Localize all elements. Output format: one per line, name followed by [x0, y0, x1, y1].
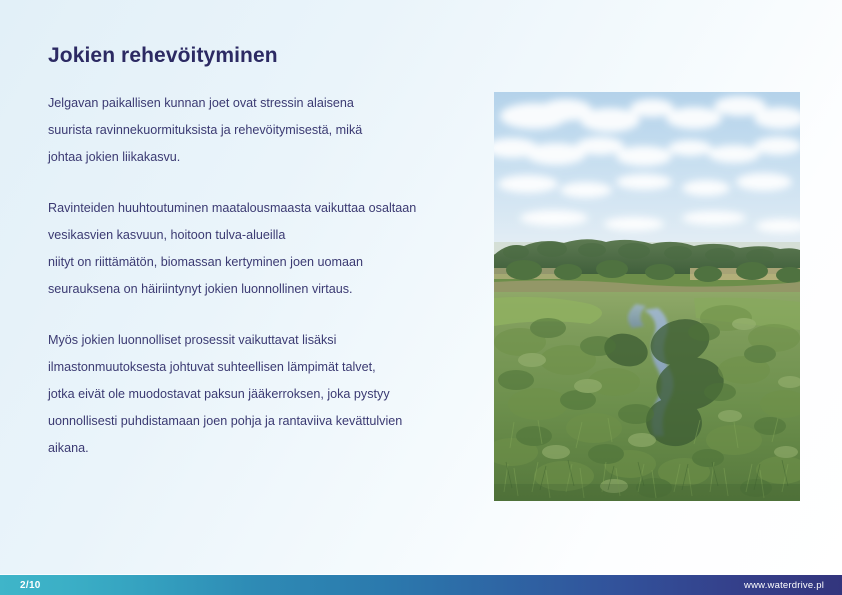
- text-line: jotka eivät ole muodostavat paksun jääke…: [48, 381, 478, 408]
- text-line: suurista ravinnekuormituksista ja rehevö…: [48, 117, 478, 144]
- page-title: Jokien rehevöityminen: [48, 44, 278, 68]
- text-line: Ravinteiden huuhtoutuminen maatalousmaas…: [48, 195, 478, 222]
- text-line: aikana.: [48, 435, 478, 462]
- paragraph-2: Ravinteiden huuhtoutuminen maatalousmaas…: [48, 195, 478, 303]
- page-indicator: 2/10: [0, 580, 41, 591]
- text-line: johtaa jokien liikakasvu.: [48, 144, 478, 171]
- text-line: ilmastonmuutoksesta johtuvat suhteellise…: [48, 354, 478, 381]
- text-line: niityt on riittämätön, biomassan kertymi…: [48, 249, 478, 276]
- text-line: seurauksena on häiriintynyt jokien luonn…: [48, 276, 478, 303]
- website-link[interactable]: www.waterdrive.pl: [744, 580, 842, 591]
- body-text-column: Jelgavan paikallisen kunnan joet ovat st…: [48, 90, 478, 462]
- text-line: Myös jokien luonnolliset prosessit vaiku…: [48, 327, 478, 354]
- text-line: vesikasvien kasvuun, hoitoon tulva-aluei…: [48, 222, 478, 249]
- paragraph-3: Myös jokien luonnolliset prosessit vaiku…: [48, 327, 478, 462]
- text-line: uonnollisesti puhdistamaan joen pohja ja…: [48, 408, 478, 435]
- paragraph-1: Jelgavan paikallisen kunnan joet ovat st…: [48, 90, 478, 171]
- presentation-slide: Jokien rehevöityminen Jelgavan paikallis…: [0, 0, 842, 595]
- footer-bar: 2/10 www.waterdrive.pl: [0, 575, 842, 595]
- text-line: Jelgavan paikallisen kunnan joet ovat st…: [48, 90, 478, 117]
- river-meadow-photo: [494, 92, 800, 501]
